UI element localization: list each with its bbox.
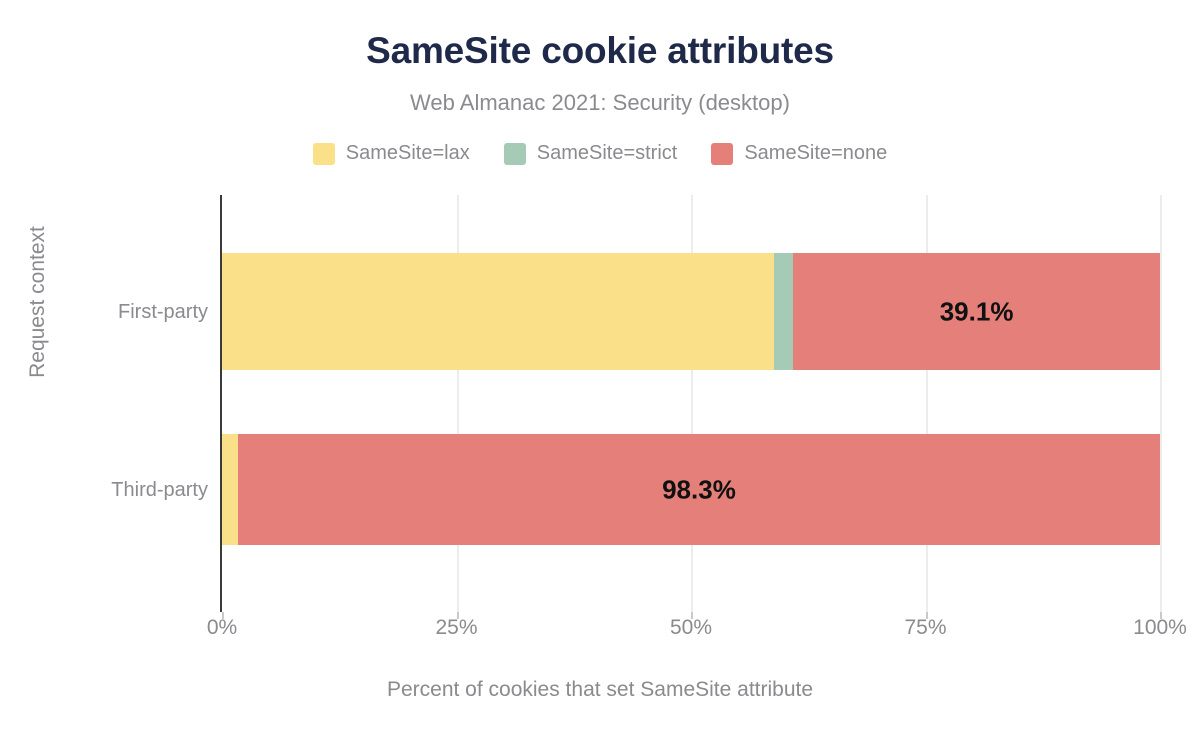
plot-area: 39.1%98.3% <box>222 195 1160 612</box>
bar-value-label: 98.3% <box>662 474 736 505</box>
x-axis-tick-0: 0% <box>207 616 237 640</box>
bar-row-third-party: 98.3% <box>222 434 1160 545</box>
bar-segment-first-party-strict[interactable] <box>774 253 793 370</box>
x-axis-title: Percent of cookies that set SameSite att… <box>0 678 1200 702</box>
x-axis-tick-25: 25% <box>435 616 477 640</box>
legend-swatch-lax-icon <box>313 143 335 165</box>
legend-item-strict[interactable]: SameSite=strict <box>504 142 678 165</box>
bar-row-first-party: 39.1% <box>222 253 1160 370</box>
legend-swatch-strict-icon <box>504 143 526 165</box>
legend-item-none[interactable]: SameSite=none <box>711 142 887 165</box>
chart-legend: SameSite=lax SameSite=strict SameSite=no… <box>0 142 1200 165</box>
legend-swatch-none-icon <box>711 143 733 165</box>
legend-label-lax: SameSite=lax <box>346 142 470 165</box>
chart-container: SameSite cookie attributes Web Almanac 2… <box>0 0 1200 742</box>
bar-segment-first-party-lax[interactable] <box>222 253 774 370</box>
x-axis-tick-100: 100% <box>1133 616 1187 640</box>
bar-segment-first-party-none[interactable]: 39.1% <box>793 253 1160 370</box>
x-axis-tick-75: 75% <box>904 616 946 640</box>
gridline-100 <box>1160 195 1162 612</box>
y-axis-tick-third-party: Third-party <box>0 479 208 502</box>
bar-value-label: 39.1% <box>940 296 1014 327</box>
chart-subtitle: Web Almanac 2021: Security (desktop) <box>0 90 1200 116</box>
bar-segment-third-party-lax[interactable] <box>222 434 238 545</box>
bar-segment-third-party-none[interactable]: 98.3% <box>238 434 1160 545</box>
legend-label-strict: SameSite=strict <box>537 142 678 165</box>
legend-item-lax[interactable]: SameSite=lax <box>313 142 470 165</box>
chart-title: SameSite cookie attributes <box>0 30 1200 72</box>
legend-label-none: SameSite=none <box>744 142 887 165</box>
x-axis-tick-50: 50% <box>670 616 712 640</box>
y-axis-tick-first-party: First-party <box>0 301 208 324</box>
